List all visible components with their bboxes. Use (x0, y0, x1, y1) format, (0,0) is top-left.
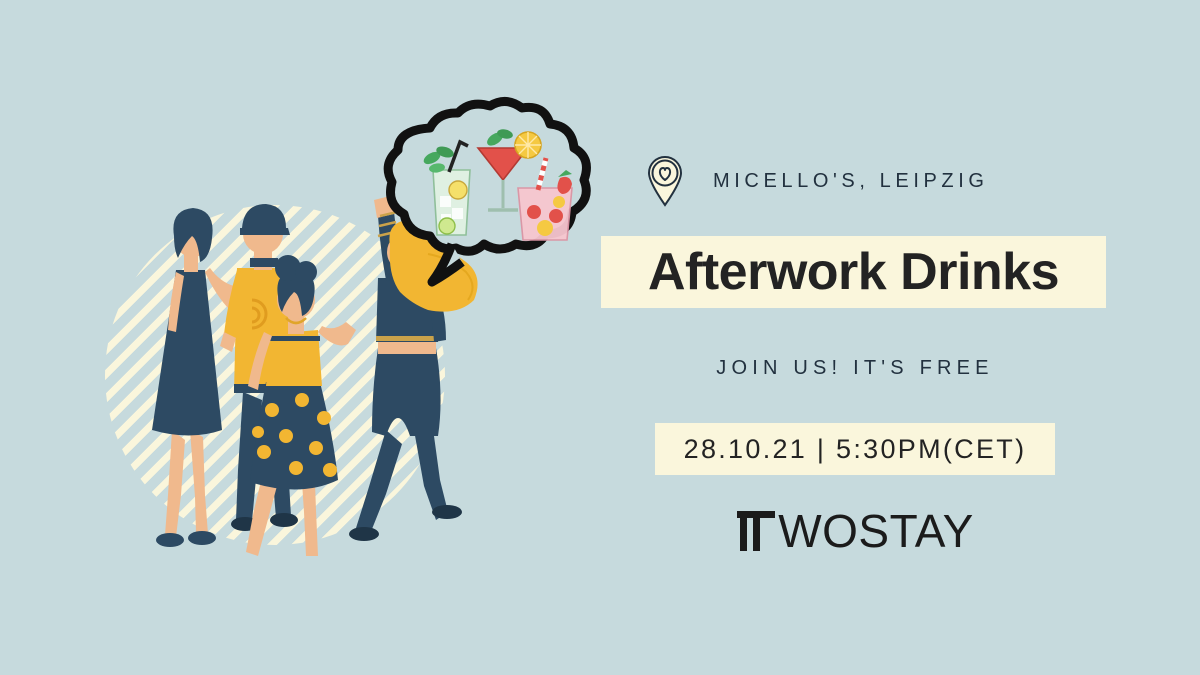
illustration-area (0, 0, 600, 675)
subtitle: JOIN US! IT'S FREE (600, 357, 1110, 380)
venue-row: MICELLO'S, LEIPZIG (645, 155, 989, 207)
content-column: MICELLO'S, LEIPZIG Afterwork Drinks JOIN… (600, 0, 1200, 675)
title-band: Afterwork Drinks (601, 236, 1106, 308)
brand-name: WOSTAY (778, 508, 974, 554)
brand-logo: WOSTAY (600, 508, 1110, 554)
event-datetime: 28.10.21 | 5:30PM(CET) (684, 434, 1027, 465)
drinks-thought-bubble (0, 0, 600, 675)
event-poster: MICELLO'S, LEIPZIG Afterwork Drinks JOIN… (0, 0, 1200, 675)
venue-label: MICELLO'S, LEIPZIG (713, 170, 989, 193)
date-band: 28.10.21 | 5:30PM(CET) (655, 423, 1055, 475)
twostay-monogram-icon (736, 509, 776, 553)
page-title: Afterwork Drinks (648, 242, 1059, 302)
location-pin-heart-icon (645, 155, 685, 207)
